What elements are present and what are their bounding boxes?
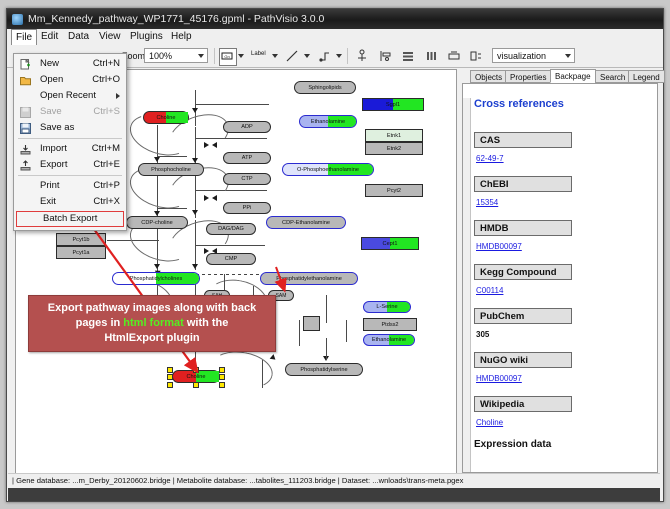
xref-value-pubchem: 305 — [476, 330, 489, 339]
zoom-value: 100% — [149, 51, 172, 61]
window-title: Mm_Kennedy_pathway_WP1771_45176.gpml - P… — [28, 9, 324, 29]
menu-item-save-as[interactable]: Save as — [14, 120, 126, 136]
gene-pcyt2[interactable]: Pcyt2 — [365, 184, 423, 197]
label-dropdown-icon[interactable] — [272, 54, 278, 58]
xref-label-pubchem: PubChem — [474, 308, 572, 324]
application-window: Mm_Kennedy_pathway_WP1771_45176.gpml - P… — [0, 0, 670, 509]
main-frame: Mm_Kennedy_pathway_WP1771_45176.gpml - P… — [6, 8, 664, 502]
menu-item-exit[interactable]: Exit Ctrl+X — [14, 194, 126, 210]
menu-item-new-accel: Ctrl+N — [93, 56, 120, 72]
menu-data[interactable]: Data — [64, 30, 93, 44]
red-pointer-arrow-head-top — [266, 265, 306, 295]
menu-item-import-accel: Ctrl+M — [92, 141, 120, 157]
menu-item-print-accel: Ctrl+P — [93, 178, 120, 194]
gene-sgpl1[interactable]: Sgpl1 — [362, 98, 424, 111]
backpage-scrollbar[interactable] — [463, 98, 471, 473]
node-sphingolipids[interactable]: Sphingolipids — [294, 81, 356, 94]
menu-item-import[interactable]: Import Ctrl+M — [14, 141, 126, 157]
menu-item-print-label: Print — [40, 180, 60, 191]
tab-search[interactable]: Search — [595, 70, 630, 83]
menu-item-open-recent[interactable]: Open Recent — [14, 88, 126, 104]
tab-properties[interactable]: Properties — [505, 70, 551, 83]
gene-ptdss2[interactable]: Ptdss2 — [363, 318, 417, 331]
tab-backpage[interactable]: Backpage — [550, 69, 596, 83]
svg-text:Gn: Gn — [224, 54, 229, 59]
menu-item-new[interactable]: New Ctrl+N — [14, 56, 126, 72]
menu-item-print[interactable]: Print Ctrl+P — [14, 178, 126, 194]
menu-item-new-label: New — [40, 58, 59, 69]
xref-value-nugo-wiki[interactable]: HMDB00097 — [476, 374, 522, 383]
gene-etnk2[interactable]: Etnk2 — [365, 142, 423, 155]
expression-data-heading: Expression data — [474, 439, 551, 450]
label-tool-label[interactable]: Label — [251, 51, 266, 57]
node-ethanolamine-1[interactable]: Ethanolamine — [299, 115, 357, 128]
node-ethanolamine-2[interactable]: Ethanolamine — [363, 334, 415, 346]
tab-objects[interactable]: Objects — [470, 70, 507, 83]
node-cdp-ethanolamine[interactable]: CDP-Ethanolamine — [266, 216, 346, 229]
menu-item-export[interactable]: Export Ctrl+E — [14, 157, 126, 173]
xref-value-kegg-compound[interactable]: C00114 — [476, 286, 503, 295]
callout-line-1: Export pathway images along with back — [35, 301, 269, 316]
xref-label-hmdb: HMDB — [474, 220, 572, 236]
order-icon[interactable] — [468, 48, 486, 66]
menu-file[interactable]: File — [11, 29, 37, 46]
menu-plugins[interactable]: Plugins — [126, 30, 167, 44]
group-icon[interactable] — [446, 48, 464, 66]
open-folder-icon — [20, 75, 31, 86]
xref-value-wikipedia[interactable]: Choline — [476, 418, 503, 427]
menu-item-import-label: Import — [40, 143, 67, 154]
save-as-icon — [20, 123, 31, 134]
menu-item-open-accel: Ctrl+O — [92, 72, 120, 88]
chevron-down-icon — [198, 54, 204, 58]
chevron-right-icon — [116, 93, 120, 99]
gene-cept1[interactable]: Cept1 — [361, 237, 419, 250]
import-icon — [20, 144, 31, 155]
chevron-down-icon — [565, 54, 571, 58]
zoom-combo[interactable]: 100% — [144, 48, 208, 63]
menu-item-batch-export-label: Batch Export — [43, 213, 97, 224]
new-file-icon — [20, 59, 31, 70]
menu-item-open-label: Open — [40, 74, 63, 85]
annotation-callout: Export pathway images along with back pa… — [28, 295, 276, 352]
status-bar: | Gene database: ...m_Derby_20120602.bri… — [8, 473, 660, 487]
xref-label-chebi: ChEBI — [474, 176, 572, 192]
node-ctp[interactable]: CTP — [223, 173, 271, 185]
menu-item-open[interactable]: Open Ctrl+O — [14, 72, 126, 88]
resize-handle[interactable] — [219, 374, 225, 380]
menu-edit[interactable]: Edit — [37, 30, 62, 44]
interaction-dropdown-icon[interactable] — [336, 54, 342, 58]
xref-value-chebi[interactable]: 15354 — [476, 198, 498, 207]
tab-legend[interactable]: Legend — [628, 70, 665, 83]
xref-label-nugo-wiki: NuGO wiki — [474, 352, 572, 368]
file-menu-dropdown[interactable]: New Ctrl+N Open Ctrl+O Open Recent Save … — [13, 53, 127, 231]
callout-highlight: html format — [123, 317, 184, 329]
line-dropdown-icon[interactable] — [304, 54, 310, 58]
resize-handle[interactable] — [219, 367, 225, 373]
interaction-icon[interactable] — [316, 48, 334, 66]
menu-item-save-accel: Ctrl+S — [93, 104, 120, 120]
menu-separator — [18, 138, 122, 139]
menu-item-export-accel: Ctrl+E — [93, 157, 120, 173]
bottom-strip — [8, 488, 660, 501]
backpage-content: Cross references CAS 62-49-7 ChEBI 15354… — [462, 83, 658, 473]
menu-help[interactable]: Help — [167, 30, 196, 44]
node-o-phosphoethanolamine[interactable]: O-Phosphoethanolamine — [282, 163, 374, 176]
xref-label-kegg-compound: Kegg Compound — [474, 264, 572, 280]
pathvisio-icon — [12, 14, 23, 25]
menu-item-save-label: Save — [40, 106, 62, 117]
reaction-stub[interactable] — [303, 316, 320, 331]
gene-product-dropdown-icon[interactable] — [238, 54, 244, 58]
callout-line2-post: with the — [184, 317, 229, 329]
menu-item-exit-accel: Ctrl+X — [93, 194, 120, 210]
menu-item-save: Save Ctrl+S — [14, 104, 126, 120]
xref-label-cas: CAS — [474, 132, 572, 148]
stack-icon[interactable] — [400, 48, 418, 66]
xref-value-cas[interactable]: 62-49-7 — [476, 154, 504, 163]
visualization-combo[interactable]: visualization — [492, 48, 575, 63]
callout-line-3: HtmlExport plugin — [35, 331, 269, 346]
node-l-serine[interactable]: L-Serine — [363, 301, 411, 313]
node-phosphatidylserine[interactable]: Phosphatidylserine — [285, 363, 363, 376]
menu-bar: File Edit Data View Plugins Help — [7, 29, 663, 46]
save-disk-icon — [20, 107, 31, 118]
menu-separator — [18, 175, 122, 176]
menu-item-exit-label: Exit — [40, 196, 56, 207]
align-icon[interactable] — [377, 48, 395, 66]
export-icon — [20, 160, 31, 171]
gene-etnk1[interactable]: Etnk1 — [365, 129, 423, 142]
node-atp[interactable]: ATP — [223, 152, 271, 164]
cross-references-heading: Cross references — [474, 98, 564, 110]
xref-label-wikipedia: Wikipedia — [474, 396, 572, 412]
distribute-icon[interactable] — [423, 48, 441, 66]
visualization-value: visualization — [497, 51, 546, 61]
gene-product-icon[interactable]: Gn — [219, 48, 237, 66]
callout-line-2: pages in html format with the — [35, 316, 269, 331]
resize-handle[interactable] — [219, 382, 225, 388]
node-adp[interactable]: ADP — [223, 121, 271, 133]
side-panel: Objects Properties Backpage Search Legen… — [462, 69, 658, 473]
menu-item-open-recent-label: Open Recent — [40, 90, 96, 101]
menu-item-save-as-label: Save as — [40, 122, 74, 133]
node-ppi[interactable]: PPi — [223, 202, 271, 214]
menu-view[interactable]: View — [95, 30, 125, 44]
menu-item-batch-export[interactable]: Batch Export — [16, 211, 124, 227]
xref-value-hmdb[interactable]: HMDB00097 — [476, 242, 522, 251]
line-icon[interactable] — [284, 48, 302, 66]
menu-item-export-label: Export — [40, 159, 67, 170]
anchor-icon[interactable] — [354, 48, 372, 66]
callout-line2-pre: pages in — [76, 317, 124, 329]
title-bar: Mm_Kennedy_pathway_WP1771_45176.gpml - P… — [7, 9, 663, 29]
side-panel-tabs: Objects Properties Backpage Search Legen… — [462, 69, 658, 83]
node-choline-top[interactable]: Choline — [143, 111, 189, 124]
